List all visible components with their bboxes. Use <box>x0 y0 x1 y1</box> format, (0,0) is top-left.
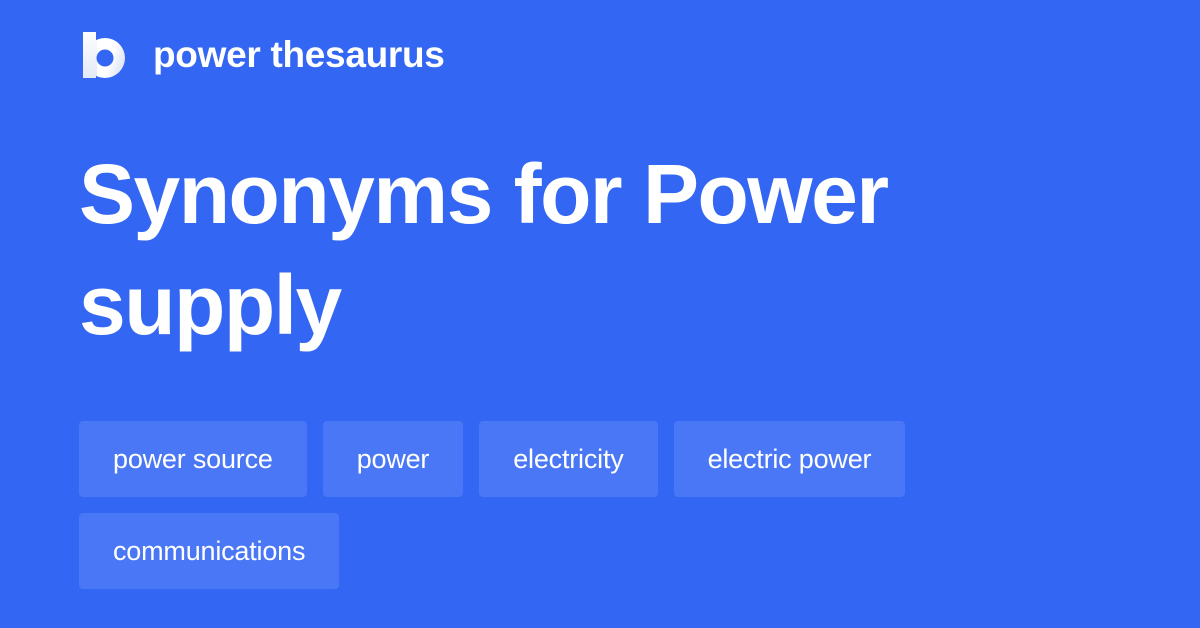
synonym-chip-list: power source power electricity electric … <box>79 421 1129 589</box>
synonym-chip[interactable]: electric power <box>674 421 906 497</box>
power-thesaurus-b-logo-icon <box>79 28 131 80</box>
brand-header[interactable]: power thesaurus <box>79 28 445 80</box>
synonym-chip[interactable]: power source <box>79 421 307 497</box>
synonym-chip[interactable]: power <box>323 421 464 497</box>
synonym-chip[interactable]: communications <box>79 513 339 589</box>
synonym-chip[interactable]: electricity <box>479 421 657 497</box>
brand-name: power thesaurus <box>153 36 445 73</box>
share-card: power thesaurus Synonyms for Power suppl… <box>0 0 1200 628</box>
page-title: Synonyms for Power supply <box>79 139 1129 361</box>
